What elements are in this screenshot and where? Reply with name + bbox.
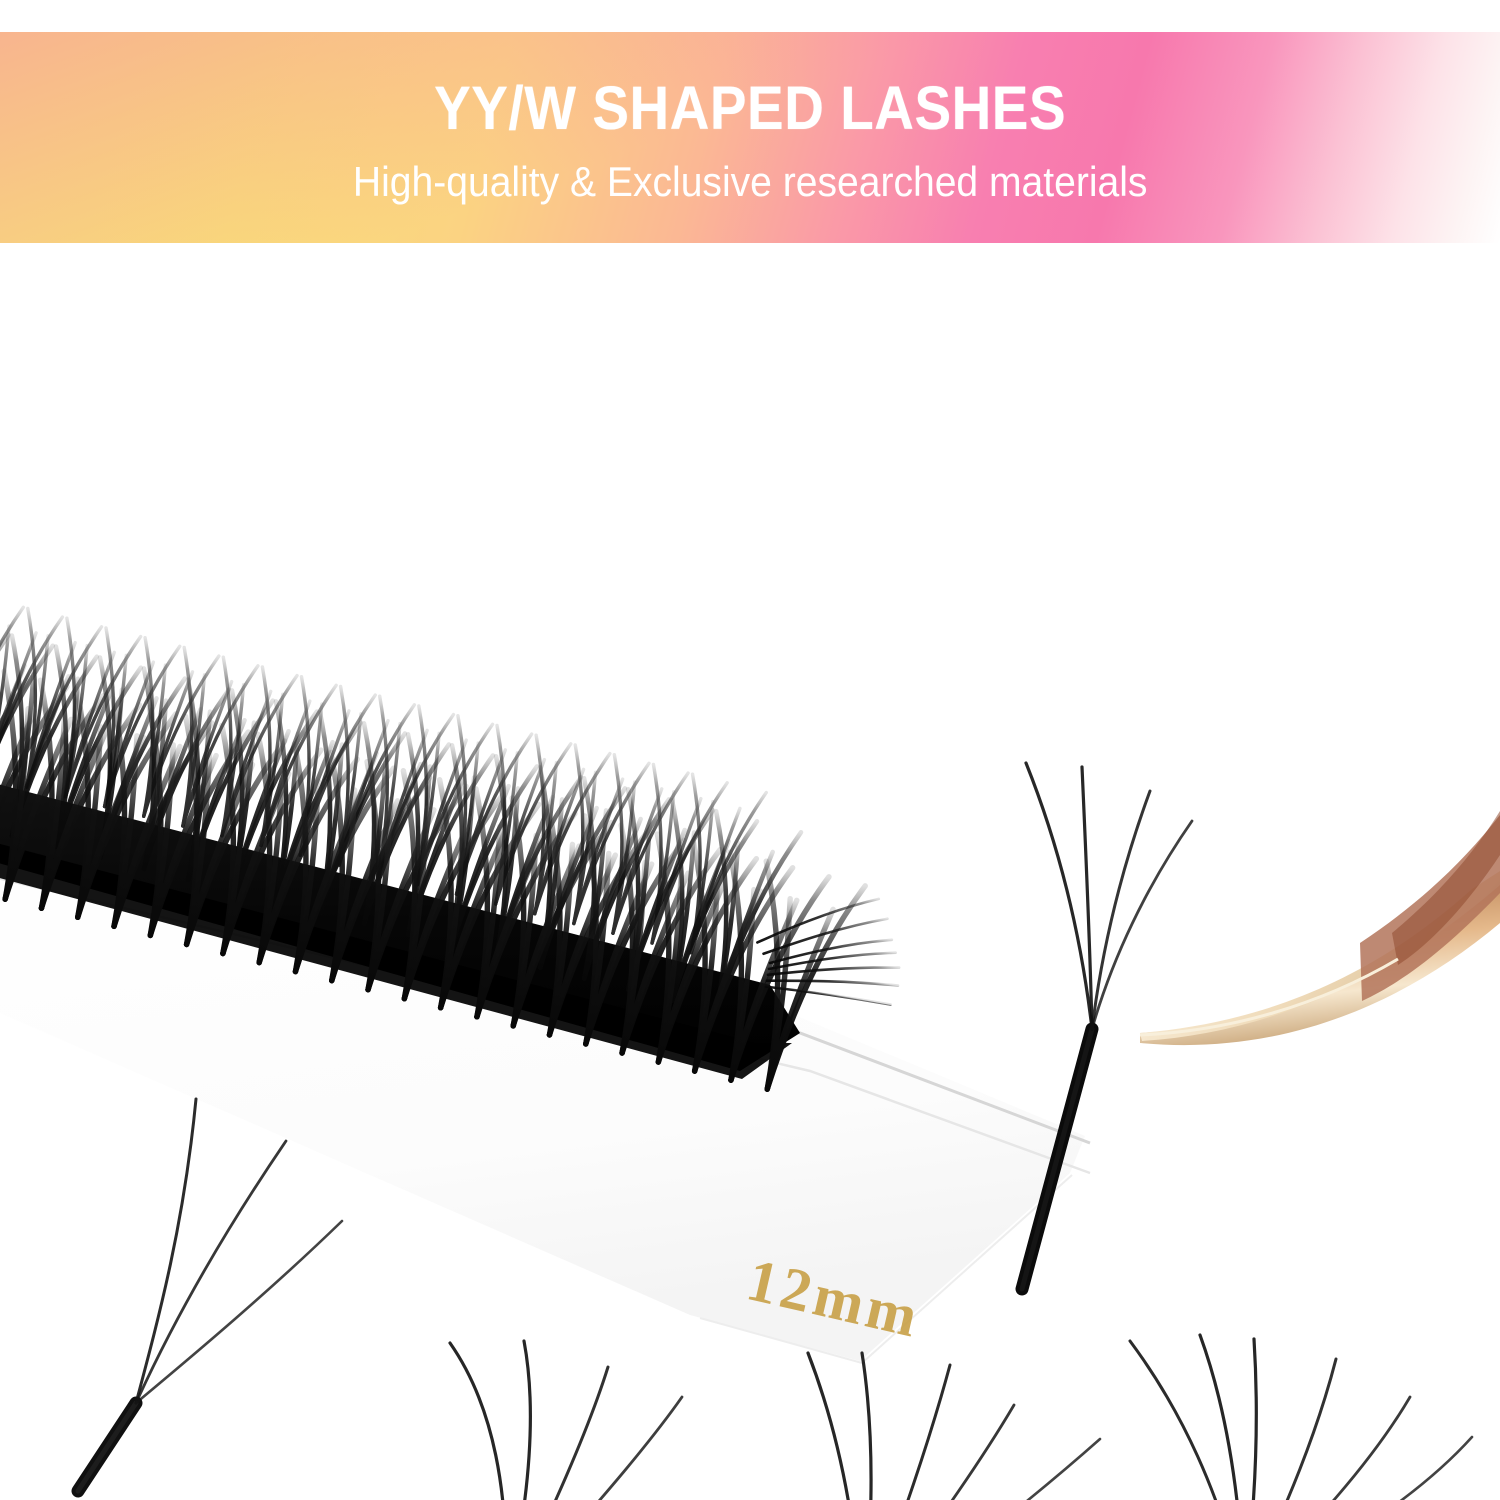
page-title: YY/W SHAPED LASHES [434, 78, 1066, 139]
banner-content: YY/W SHAPED LASHES High-quality & Exclus… [0, 32, 1500, 243]
banner-subtitle: High-quality & Exclusive researched mate… [353, 161, 1148, 203]
product-infographic: YY/W SHAPED LASHES High-quality & Exclus… [0, 0, 1500, 1500]
photo-canvas: 12mm [0, 243, 1500, 1500]
product-photo: 12mm [0, 243, 1500, 1500]
header-banner: YY/W SHAPED LASHES High-quality & Exclus… [0, 32, 1500, 243]
